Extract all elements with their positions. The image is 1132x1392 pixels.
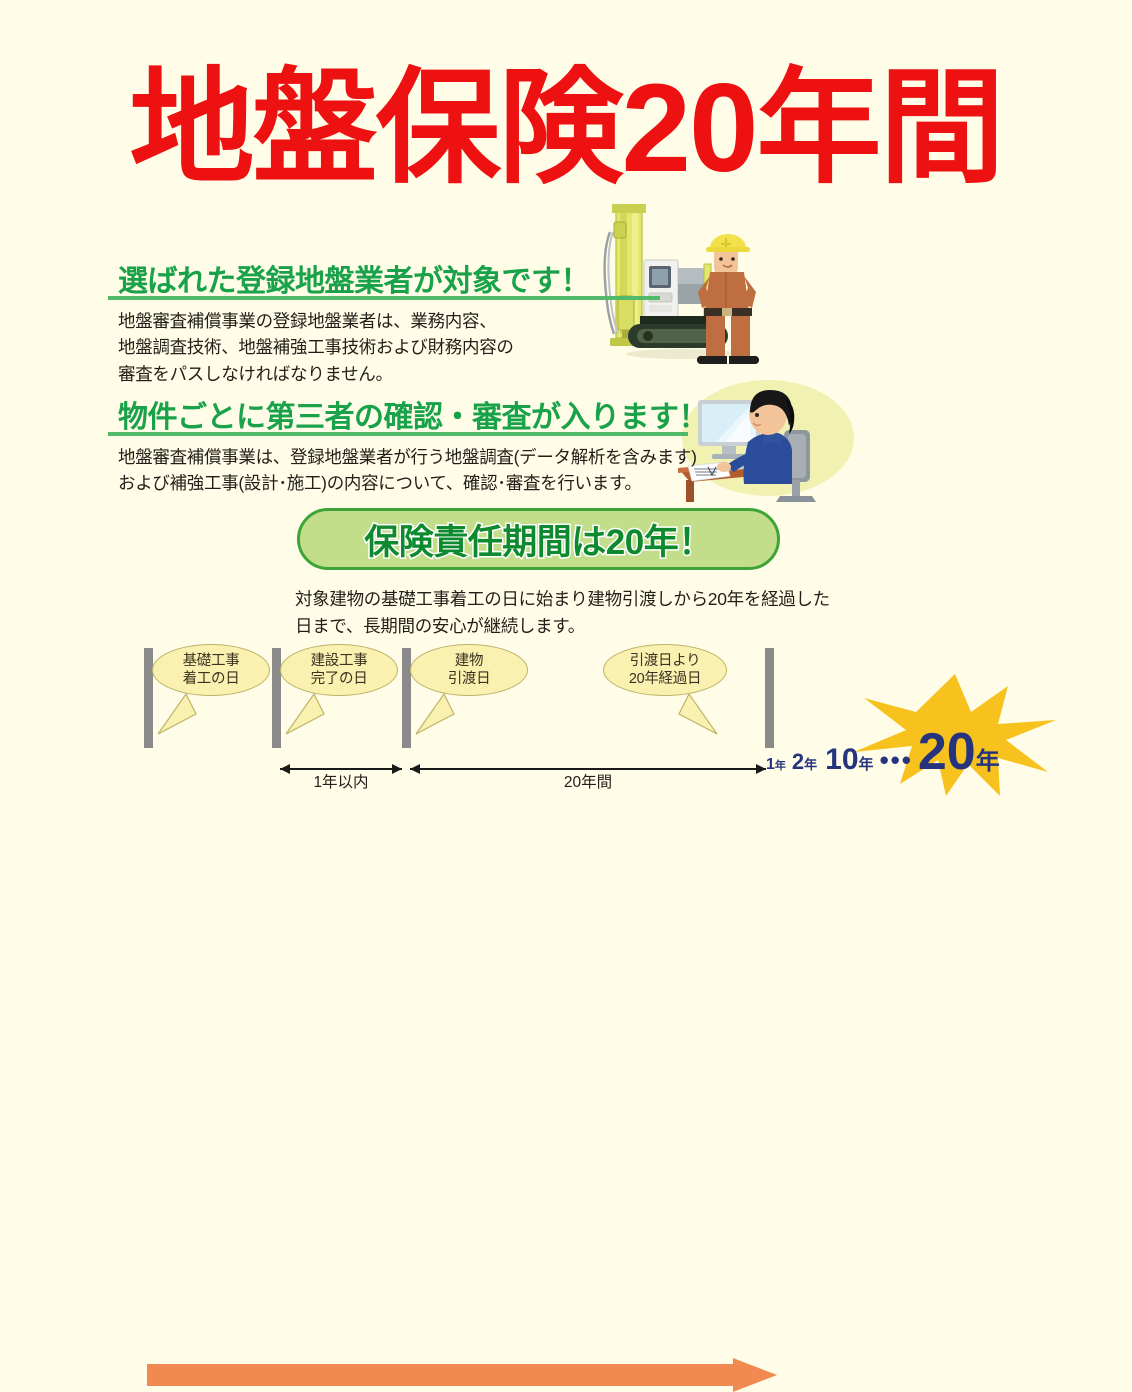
section-1-heading: 選ばれた登録地盤業者が対象です！ <box>118 256 590 300</box>
section-2-rule <box>108 432 688 436</box>
callout-tail-icon <box>156 690 200 736</box>
badge-description: 対象建物の基礎工事着工の日に始まり建物引渡しから20年を経過した 日まで、長期間… <box>295 586 830 640</box>
callout-tail-icon <box>414 690 458 736</box>
timeline-tick-2 <box>272 648 281 748</box>
year-labels: 1 年 2 年 10 年 ••• 20 年 <box>766 722 1066 772</box>
measure-label: 20年間 <box>408 770 768 792</box>
section-1-rule <box>108 296 660 300</box>
insurance-period-badge-label: 保険責任期間は20年！ <box>364 514 712 565</box>
callout-tail-icon <box>284 690 328 736</box>
section-2-body-line: および補強工事(設計･施工)の内容について、確認･審査を行います。 <box>118 470 697 496</box>
page-title: 地盤保険20年間 <box>0 66 1132 191</box>
section-1-body-line: 審査をパスしなければなりません。 <box>118 361 514 387</box>
ellipsis: ••• <box>880 745 913 776</box>
year-2-unit: 年 <box>804 754 817 773</box>
year-progression-marker: 1 年 2 年 10 年 ••• 20 年 <box>766 690 1132 790</box>
year-20-number: 20 <box>918 722 976 782</box>
callout-line-1: 基礎工事 <box>183 652 240 670</box>
section-1-body-line: 地盤審査補償事業の登録地盤業者は、業務内容、 <box>118 308 514 334</box>
section-2-body-line: 地盤審査補償事業は、登録地盤業者が行う地盤調査(データ解析を含みます) <box>118 444 697 470</box>
year-2-number: 2 <box>792 749 804 775</box>
year-20-unit: 年 <box>976 741 1000 776</box>
timeline-tick-3 <box>402 648 411 748</box>
measure-20-years: 20年間 <box>408 752 768 782</box>
badge-description-line: 対象建物の基礎工事着工の日に始まり建物引渡しから20年を経過した <box>295 586 830 613</box>
badge-description-line: 日まで、長期間の安心が継続します。 <box>295 613 830 640</box>
callout-line-2: 完了の日 <box>311 670 368 688</box>
coverage-period-arrow <box>147 1358 777 1392</box>
year-1-unit: 年 <box>775 757 786 773</box>
callout-line-2: 着工の日 <box>183 670 240 688</box>
section-2-heading: 物件ごとに第三者の確認・審査が入ります！ <box>118 392 708 436</box>
section-1-body-line: 地盤調査技術、地盤補強工事技術および財務内容の <box>118 334 514 360</box>
section-1-body: 地盤審査補償事業の登録地盤業者は、業務内容、 地盤調査技術、地盤補強工事技術およ… <box>118 308 514 387</box>
callout-line-2: 20年経過日 <box>629 670 701 688</box>
callout-line-1: 引渡日より <box>630 652 701 670</box>
callout-line-2: 引渡日 <box>448 670 491 688</box>
year-10-number: 10 <box>825 743 858 777</box>
year-10-unit: 年 <box>859 753 874 774</box>
soil-drilling-rig-illustration <box>586 198 778 378</box>
callout-tail-icon <box>675 690 719 736</box>
poster-canvas: 地盤保険20年間 <box>0 0 1132 800</box>
callout-line-1: 建設工事 <box>311 652 368 670</box>
measure-within-1-year: 1年以内 <box>278 752 404 782</box>
callout-line-1: 建物 <box>455 652 483 670</box>
year-1-number: 1 <box>766 756 775 774</box>
insurance-period-badge: 保険責任期間は20年！ <box>297 508 780 570</box>
measure-label: 1年以内 <box>278 770 404 792</box>
section-2-body: 地盤審査補償事業は、登録地盤業者が行う地盤調査(データ解析を含みます) および補… <box>118 444 697 497</box>
timeline-tick-1 <box>144 648 153 748</box>
